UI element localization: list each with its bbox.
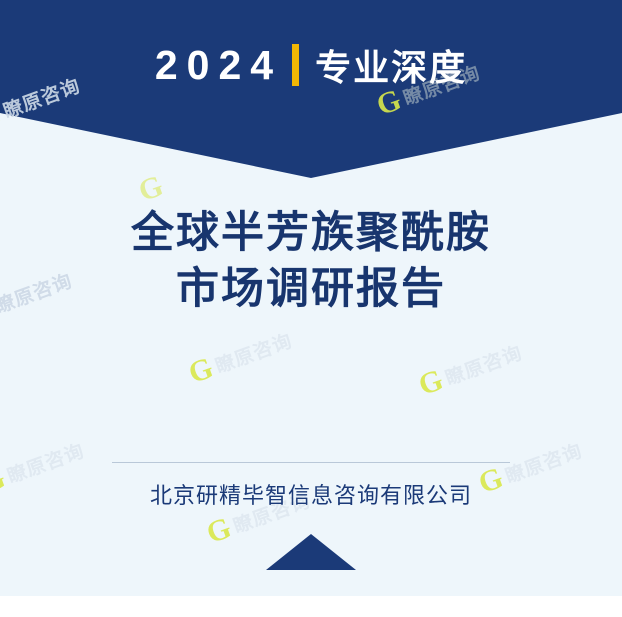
watermark: G bbox=[135, 170, 171, 208]
watermark-logo-icon: G bbox=[135, 172, 165, 207]
title-line-2: 市场调研报告 bbox=[0, 261, 622, 317]
watermark-logo-icon: G bbox=[203, 514, 233, 549]
report-year: 2024 bbox=[155, 42, 282, 89]
header-content: 2024 专业深度 bbox=[0, 0, 622, 130]
divider-bar-icon bbox=[292, 44, 299, 86]
watermark-logo-icon: G bbox=[415, 366, 445, 401]
report-title: 全球半芳族聚酰胺 市场调研报告 bbox=[0, 205, 622, 317]
bottom-strip bbox=[0, 596, 622, 617]
triangle-ornament-icon bbox=[266, 534, 356, 570]
watermark-logo-icon: G bbox=[185, 354, 215, 389]
watermark-text: 瞭原咨询 bbox=[441, 338, 525, 391]
company-name: 北京研精毕智信息咨询有限公司 bbox=[0, 478, 622, 510]
watermark-text: 瞭原咨询 bbox=[211, 326, 295, 379]
watermark: G 瞭原咨询 bbox=[415, 336, 526, 401]
header-subtitle: 专业深度 bbox=[315, 39, 467, 91]
report-cover: 2024 专业深度 全球半芳族聚酰胺 市场调研报告 北京研精毕智信息咨询有限公司… bbox=[0, 0, 622, 617]
watermark: G 瞭原咨询 bbox=[185, 324, 296, 389]
title-line-1: 全球半芳族聚酰胺 bbox=[0, 205, 622, 261]
horizontal-rule bbox=[112, 462, 510, 463]
